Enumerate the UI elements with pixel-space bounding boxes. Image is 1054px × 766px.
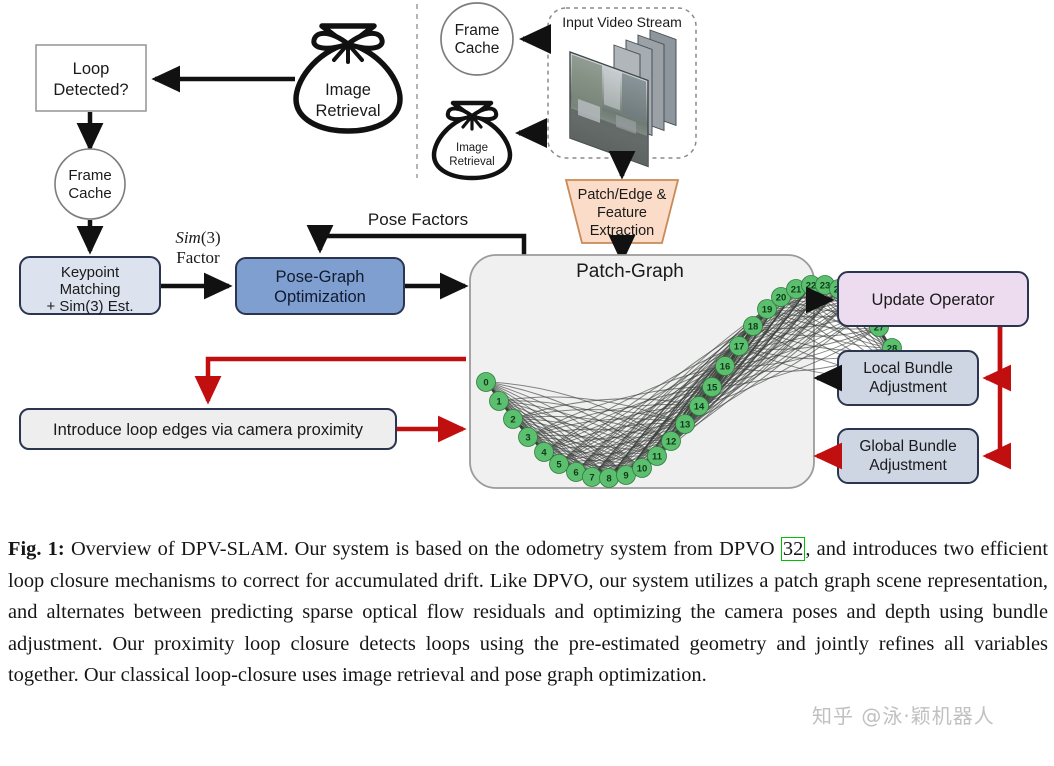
loop-detected-label-line1: Loop <box>73 60 110 78</box>
pose-graph-label-line2: Optimization <box>274 288 366 306</box>
pose-graph-label-line1: Pose-Graph <box>276 268 365 286</box>
patch-graph-title: Patch-Graph <box>576 261 684 282</box>
patch-graph-node-label: 21 <box>791 285 802 296</box>
keypoint-label-line1: Keypoint <box>61 264 120 281</box>
patch-graph-node-label: 3 <box>525 433 530 444</box>
frame-cache-left-line1: Frame <box>68 167 111 184</box>
frame-cache-right-line2: Cache <box>455 40 500 57</box>
arrow-red-patchgraph-to-loopedges <box>208 359 466 401</box>
patch-graph-node-label: 14 <box>694 402 705 413</box>
patch-graph-node-label: 11 <box>652 452 663 463</box>
patch-graph-node-label: 17 <box>734 342 745 353</box>
frame-cache-circle-left[interactable] <box>55 149 125 219</box>
caption-part1: Overview of DPV-SLAM. Our system is base… <box>71 538 781 560</box>
patch-graph-node-label: 0 <box>483 378 488 389</box>
frame-cache-circle-right[interactable] <box>441 3 513 75</box>
sim3-factor-label-line2: Factor <box>176 248 220 267</box>
patch-graph-node-label: 10 <box>637 464 648 475</box>
caption-prefix: Fig. 1: <box>8 538 65 560</box>
patch-graph-node-label: 1 <box>496 397 502 408</box>
global-ba-label-line2: Adjustment <box>869 457 947 474</box>
global-ba-label-line1: Global Bundle <box>859 438 956 455</box>
figure-caption: Fig. 1: Overview of DPV-SLAM. Our system… <box>0 528 1054 766</box>
arrow-red-updateoperator-to-globalba <box>986 327 1000 456</box>
patch-graph-node-label: 7 <box>589 473 594 484</box>
patch-graph-node-label: 6 <box>573 468 578 479</box>
image-retrieval-label-line2: Retrieval <box>315 102 380 120</box>
loop-detected-label-line2: Detected? <box>53 81 128 99</box>
caption-part2: , and introduces two efficient loop clos… <box>8 538 1048 686</box>
patch-graph-node-label: 12 <box>666 437 677 448</box>
patch-graph-node-label: 15 <box>707 383 718 394</box>
sim3-rest: (3) <box>201 228 221 247</box>
patch-graph-node-label: 2 <box>510 415 515 426</box>
extraction-label-line2: Feature <box>597 205 647 221</box>
patch-graph-node-label: 5 <box>556 460 562 471</box>
patch-graph-node-label: 16 <box>720 362 731 373</box>
patch-graph-node-label: 8 <box>606 474 611 485</box>
keypoint-label-line2: Matching <box>60 281 121 298</box>
loop-detected-box[interactable] <box>36 45 146 111</box>
update-operator-label: Update Operator <box>872 291 995 309</box>
pose-factors-label: Pose Factors <box>368 210 468 229</box>
caption-reference-32[interactable]: 32 <box>781 537 805 561</box>
image-retrieval-label-line1: Image <box>325 81 371 99</box>
patch-graph-node-label: 9 <box>623 471 628 482</box>
extraction-label-line3: Extraction <box>590 223 654 239</box>
patch-graph-node-label: 18 <box>748 322 759 333</box>
local-ba-label-line1: Local Bundle <box>863 360 953 377</box>
input-video-stream-label: Input Video Stream <box>562 14 682 30</box>
sim3-italic: Sim <box>175 228 201 247</box>
patch-graph-node-label: 19 <box>762 305 773 316</box>
patch-graph-node-label: 23 <box>820 281 831 292</box>
patch-graph-node-label: 20 <box>776 293 787 304</box>
patch-graph-node-label: 4 <box>541 448 547 459</box>
caption-text: Fig. 1: Overview of DPV-SLAM. Our system… <box>8 534 1048 692</box>
frame-cache-left-line2: Cache <box>68 185 111 202</box>
patch-graph-node-label: 13 <box>680 420 691 431</box>
sim3-factor-label-line1: Sim(3) <box>175 228 220 247</box>
image-retrieval-bag-icon-small: Image Retrieval <box>434 103 510 178</box>
dpv-slam-overview-svg: Loop Detected? Image Retrieval Frame Cac… <box>0 0 1054 520</box>
introduce-loop-edges-label: Introduce loop edges via camera proximit… <box>53 421 364 439</box>
image-retrieval-small-line1: Image <box>456 142 488 154</box>
extraction-label-line1: Patch/Edge & <box>578 187 667 203</box>
frame-cache-right-line1: Frame <box>455 22 500 39</box>
keypoint-label-line3: + Sim(3) Est. <box>46 298 133 315</box>
figure-diagram: Loop Detected? Image Retrieval Frame Cac… <box>0 0 1054 520</box>
image-retrieval-small-line2: Retrieval <box>449 156 494 168</box>
local-ba-label-line2: Adjustment <box>869 379 947 396</box>
image-retrieval-bag-icon-large: Image Retrieval <box>296 26 400 131</box>
patch-graph-node-label: 22 <box>806 281 817 292</box>
